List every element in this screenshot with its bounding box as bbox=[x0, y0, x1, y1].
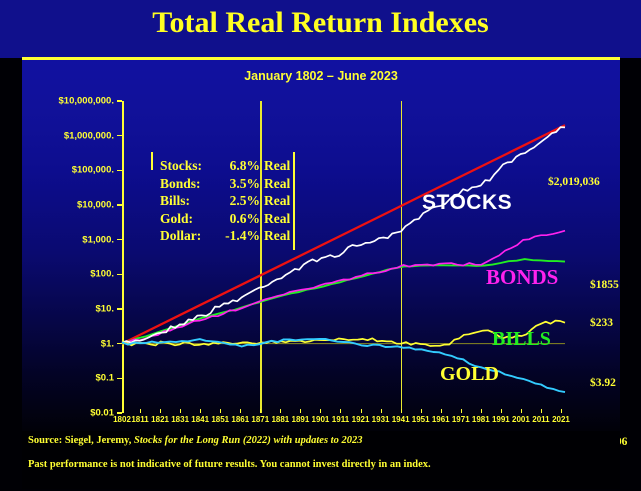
legend-row-value: -1.4% bbox=[218, 227, 260, 245]
chart-series-layer bbox=[22, 60, 620, 431]
legend-row-suffix: Real bbox=[260, 157, 290, 175]
series-label-bills: BILLS bbox=[492, 328, 551, 351]
page-title: Total Real Return Indexes bbox=[0, 6, 641, 40]
legend-row: Dollar: -1.4% Real bbox=[160, 227, 290, 245]
source-citation: Source: Siegel, Jeremy, Stocks for the L… bbox=[28, 435, 362, 446]
legend-row: Bills: 2.5% Real bbox=[160, 192, 290, 210]
end-value-stocks: $2,019,036 bbox=[548, 176, 600, 188]
legend-row: Gold: 0.6% Real bbox=[160, 210, 290, 228]
source-title-italic: Stocks for the Long Run (2022) with upda… bbox=[134, 435, 362, 446]
source-prefix: Source: Siegel, Jeremy, bbox=[28, 435, 134, 446]
disclaimer-text: Past performance is not indicative of fu… bbox=[28, 459, 431, 470]
legend-row-name: Gold: bbox=[160, 210, 218, 228]
series-label-stocks: STOCKS bbox=[422, 191, 512, 215]
legend-row: Bonds: 3.5% Real bbox=[160, 175, 290, 193]
legend-row-value: 0.6% bbox=[218, 210, 260, 228]
series-label-bonds: BONDS bbox=[486, 265, 558, 290]
series-label-gold: GOLD bbox=[440, 363, 499, 386]
legend-row-name: Bonds: bbox=[160, 175, 218, 193]
returns-legend-box: Stocks: 6.8% Real Bonds: 3.5% Real Bills… bbox=[156, 156, 294, 246]
chart-panel: January 1802 – June 2023 $10,000,000.$1,… bbox=[22, 60, 620, 431]
legend-row-suffix: Real bbox=[260, 175, 290, 193]
legend-row-value: 2.5% bbox=[218, 192, 260, 210]
legend-row-name: Bills: bbox=[160, 192, 218, 210]
legend-left-rule bbox=[151, 152, 153, 170]
legend-row-name: Dollar: bbox=[160, 227, 218, 245]
legend-row: Stocks: 6.8% Real bbox=[160, 157, 290, 175]
footer: Source: Siegel, Jeremy, Stocks for the L… bbox=[22, 431, 620, 489]
end-value-bills: $233 bbox=[590, 317, 613, 329]
legend-row-suffix: Real bbox=[260, 192, 290, 210]
legend-row-name: Stocks: bbox=[160, 157, 218, 175]
legend-row-value: 3.5% bbox=[218, 175, 260, 193]
slide-canvas: Total Real Return Indexes January 1802 –… bbox=[0, 0, 641, 491]
legend-row-suffix: Real bbox=[260, 227, 290, 245]
legend-row-suffix: Real bbox=[260, 210, 290, 228]
end-value-gold: $3.92 bbox=[590, 377, 616, 389]
end-value-bonds: $1855 bbox=[590, 279, 619, 291]
legend-row-value: 6.8% bbox=[218, 157, 260, 175]
